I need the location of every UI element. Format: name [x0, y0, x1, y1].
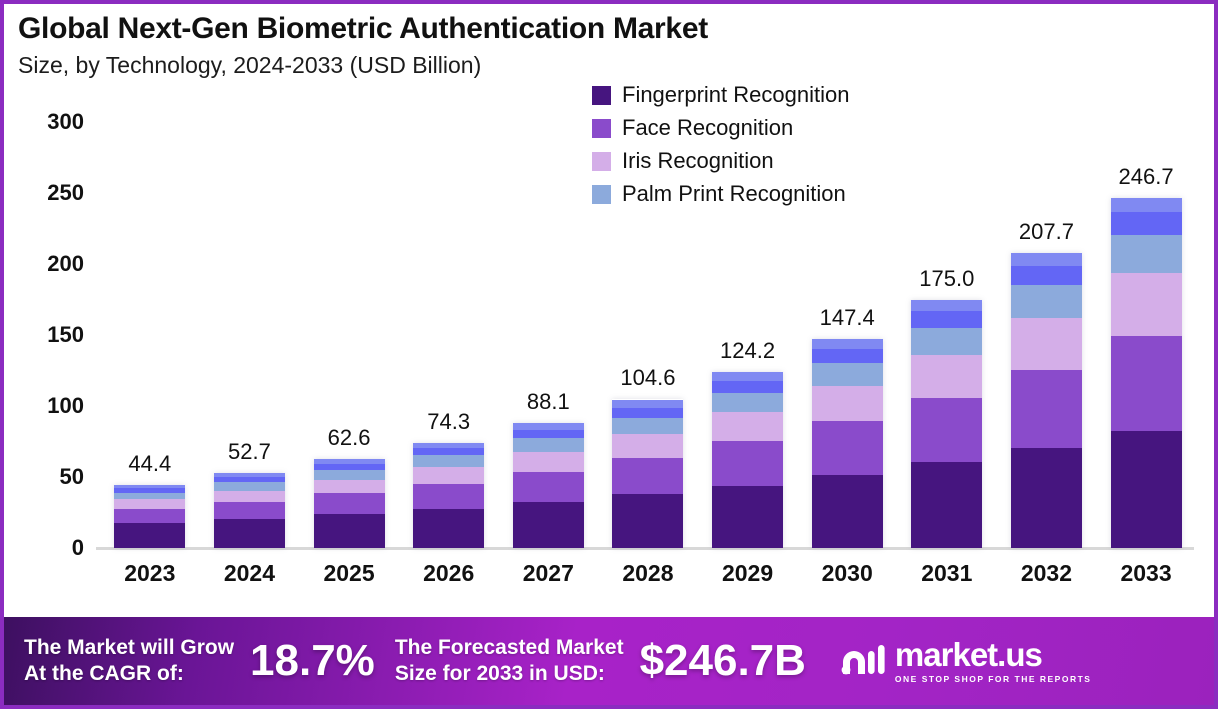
- bar-segment[interactable]: [712, 412, 783, 441]
- x-axis-tick-label: 2033: [1106, 560, 1186, 594]
- forecast-size-label: The Forecasted Market Size for 2033 in U…: [395, 635, 624, 686]
- cagr-label-line1: The Market will Grow: [24, 635, 234, 661]
- y-axis-tick-label: 300: [47, 109, 84, 135]
- bar-stack[interactable]: [1011, 253, 1082, 548]
- bar-segment[interactable]: [413, 467, 484, 483]
- bar-segment[interactable]: [314, 493, 385, 514]
- x-axis: 2023202420252026202720282029203020312032…: [100, 560, 1196, 594]
- bar-segment[interactable]: [1111, 336, 1182, 431]
- y-axis-tick-label: 250: [47, 180, 84, 206]
- bar-segment[interactable]: [413, 484, 484, 509]
- bar-segment[interactable]: [612, 418, 683, 434]
- bar-value-label: 44.4: [128, 451, 171, 477]
- bar-group[interactable]: 44.4: [110, 122, 190, 548]
- x-axis-tick-label: 2032: [1006, 560, 1086, 594]
- chart-canvas: Global Next-Gen Biometric Authentication…: [0, 0, 1218, 709]
- bar-group[interactable]: 246.7: [1106, 122, 1186, 548]
- bar-segment[interactable]: [812, 339, 883, 350]
- cagr-label-line2: At the CAGR of:: [24, 661, 234, 687]
- bar-segment[interactable]: [214, 491, 285, 502]
- bar-segment[interactable]: [1011, 285, 1082, 317]
- bar-segment[interactable]: [1011, 370, 1082, 448]
- bar-segment[interactable]: [712, 372, 783, 382]
- market-us-logo-icon: [840, 642, 886, 681]
- plot-area: 44.452.762.674.388.1104.6124.2147.4175.0…: [100, 122, 1196, 548]
- bar-segment[interactable]: [1011, 448, 1082, 548]
- bar-segment[interactable]: [612, 494, 683, 548]
- y-axis-tick-label: 100: [47, 393, 84, 419]
- bar-segment[interactable]: [712, 441, 783, 485]
- bar-segment[interactable]: [812, 421, 883, 474]
- bar-segment[interactable]: [1011, 266, 1082, 285]
- x-axis-tick-label: 2023: [110, 560, 190, 594]
- bar-segment[interactable]: [812, 475, 883, 548]
- y-axis-tick-label: 0: [72, 535, 84, 561]
- bar-value-label: 74.3: [427, 409, 470, 435]
- bar-segment[interactable]: [712, 486, 783, 548]
- bar-stack[interactable]: [413, 443, 484, 549]
- bar-segment[interactable]: [1011, 318, 1082, 370]
- bar-segment[interactable]: [911, 462, 982, 548]
- bar-value-label: 246.7: [1119, 164, 1174, 190]
- bar-group[interactable]: 88.1: [508, 122, 588, 548]
- bar-value-label: 175.0: [919, 266, 974, 292]
- bar-segment[interactable]: [911, 355, 982, 398]
- bar-segment[interactable]: [1011, 253, 1082, 266]
- market-us-logo[interactable]: market.us ONE STOP SHOP FOR THE REPORTS: [840, 638, 1092, 684]
- y-axis-tick-label: 50: [60, 464, 84, 490]
- bar-segment[interactable]: [812, 363, 883, 386]
- bar-segment[interactable]: [314, 480, 385, 494]
- bar-segment[interactable]: [1111, 198, 1182, 212]
- bar-series-container: 44.452.762.674.388.1104.6124.2147.4175.0…: [100, 122, 1196, 548]
- chart-header: Global Next-Gen Biometric Authentication…: [18, 12, 708, 79]
- forecast-size-value: $246.7B: [640, 636, 806, 686]
- bar-segment[interactable]: [712, 393, 783, 412]
- x-axis-tick-label: 2024: [209, 560, 289, 594]
- bar-stack[interactable]: [114, 485, 185, 548]
- legend-item[interactable]: Fingerprint Recognition: [592, 82, 849, 108]
- bar-group[interactable]: 124.2: [708, 122, 788, 548]
- x-axis-tick-label: 2025: [309, 560, 389, 594]
- bar-segment[interactable]: [513, 452, 584, 472]
- y-axis-tick-label: 200: [47, 251, 84, 277]
- bar-segment[interactable]: [314, 514, 385, 548]
- bar-segment[interactable]: [911, 328, 982, 355]
- bar-group[interactable]: 147.4: [807, 122, 887, 548]
- bottom-banner: The Market will Grow At the CAGR of: 18.…: [4, 617, 1214, 705]
- bar-segment[interactable]: [1111, 273, 1182, 336]
- bar-stack[interactable]: [513, 423, 584, 548]
- x-axis-tick-label: 2029: [708, 560, 788, 594]
- bar-stack[interactable]: [911, 300, 982, 549]
- bar-stack[interactable]: [712, 372, 783, 548]
- bar-stack[interactable]: [314, 459, 385, 548]
- logo-name: market.us: [895, 638, 1092, 671]
- bar-segment[interactable]: [513, 472, 584, 502]
- bar-group[interactable]: 207.7: [1006, 122, 1086, 548]
- x-axis-tick-label: 2027: [508, 560, 588, 594]
- cagr-value: 18.7%: [250, 636, 375, 686]
- bar-segment[interactable]: [513, 430, 584, 438]
- bar-segment[interactable]: [1111, 431, 1182, 548]
- bar-stack[interactable]: [612, 399, 683, 548]
- bar-group[interactable]: 74.3: [409, 122, 489, 548]
- bar-segment[interactable]: [911, 398, 982, 463]
- bar-segment[interactable]: [612, 458, 683, 494]
- bar-segment[interactable]: [1111, 235, 1182, 273]
- bar-segment[interactable]: [612, 400, 683, 408]
- y-axis-tick-label: 150: [47, 322, 84, 348]
- bar-segment[interactable]: [314, 470, 385, 480]
- bar-segment[interactable]: [1111, 212, 1182, 235]
- bar-segment[interactable]: [214, 482, 285, 490]
- bar-value-label: 147.4: [820, 305, 875, 331]
- bar-stack[interactable]: [1111, 198, 1182, 548]
- bar-segment[interactable]: [214, 519, 285, 548]
- legend-swatch-icon: [592, 86, 611, 105]
- bar-segment[interactable]: [812, 386, 883, 421]
- bar-segment[interactable]: [114, 493, 185, 500]
- bar-value-label: 207.7: [1019, 219, 1074, 245]
- bar-segment[interactable]: [413, 509, 484, 548]
- forecast-size-label-line2: Size for 2033 in USD:: [395, 661, 624, 687]
- bar-segment[interactable]: [612, 408, 683, 418]
- bar-segment[interactable]: [114, 509, 185, 523]
- bar-group[interactable]: 62.6: [309, 122, 389, 548]
- bar-value-label: 88.1: [527, 389, 570, 415]
- bar-value-label: 104.6: [620, 365, 675, 391]
- bar-segment[interactable]: [612, 434, 683, 458]
- bar-segment[interactable]: [513, 438, 584, 452]
- bar-group[interactable]: 104.6: [608, 122, 688, 548]
- bar-segment[interactable]: [413, 455, 484, 467]
- x-axis-tick-label: 2031: [907, 560, 987, 594]
- bar-segment[interactable]: [114, 499, 185, 509]
- bar-segment[interactable]: [513, 423, 584, 430]
- bar-segment[interactable]: [513, 502, 584, 548]
- forecast-size-label-line1: The Forecasted Market: [395, 635, 624, 661]
- bar-segment[interactable]: [413, 448, 484, 455]
- x-axis-tick-label: 2028: [608, 560, 688, 594]
- bar-segment[interactable]: [911, 311, 982, 327]
- bar-segment[interactable]: [911, 300, 982, 312]
- bar-segment[interactable]: [712, 381, 783, 393]
- y-axis: 050100150200250300: [4, 122, 92, 548]
- bar-stack[interactable]: [812, 339, 883, 548]
- bar-group[interactable]: 52.7: [209, 122, 289, 548]
- bar-segment[interactable]: [114, 523, 185, 548]
- x-axis-tick-label: 2030: [807, 560, 887, 594]
- bar-value-label: 52.7: [228, 439, 271, 465]
- x-axis-tick-label: 2026: [409, 560, 489, 594]
- bar-stack[interactable]: [214, 473, 285, 548]
- market-us-logo-text: market.us ONE STOP SHOP FOR THE REPORTS: [895, 638, 1092, 684]
- page-title: Global Next-Gen Biometric Authentication…: [18, 12, 708, 46]
- bar-segment[interactable]: [812, 349, 883, 363]
- bar-group[interactable]: 175.0: [907, 122, 987, 548]
- bar-segment[interactable]: [214, 502, 285, 519]
- chart-subtitle: Size, by Technology, 2024-2033 (USD Bill…: [18, 52, 708, 79]
- logo-tagline: ONE STOP SHOP FOR THE REPORTS: [895, 674, 1092, 684]
- bar-value-label: 124.2: [720, 338, 775, 364]
- bar-value-label: 62.6: [328, 425, 371, 451]
- legend-item-label: Fingerprint Recognition: [622, 82, 849, 108]
- cagr-label: The Market will Grow At the CAGR of:: [24, 635, 234, 686]
